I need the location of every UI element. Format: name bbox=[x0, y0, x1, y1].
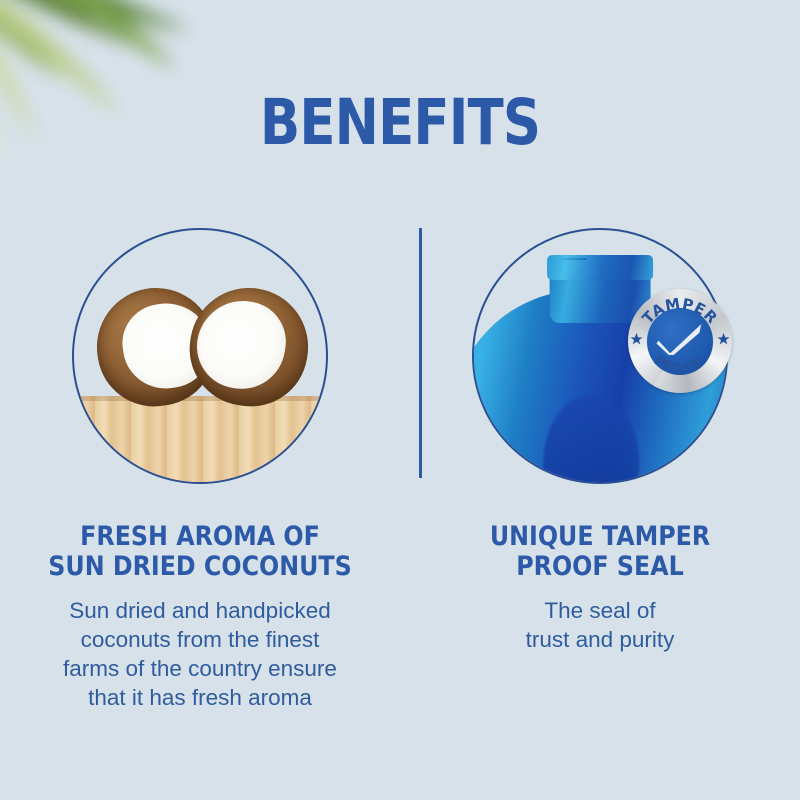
tamper-proof-seal-badge: TAMPER PROOF bbox=[628, 289, 732, 393]
benefit-caption-right: UNIQUE TAMPER PROOF SEAL The seal of tru… bbox=[400, 522, 800, 654]
circle-outline bbox=[72, 228, 328, 484]
coconut-half-right bbox=[181, 279, 317, 415]
benefit-media-circle-right: TAMPER PROOF bbox=[472, 228, 728, 484]
benefit-caption-left: FRESH AROMA OF SUN DRIED COCONUTS Sun dr… bbox=[0, 522, 400, 712]
benefit-title: UNIQUE TAMPER PROOF SEAL bbox=[436, 522, 763, 582]
benefit-item-fresh-aroma: FRESH AROMA OF SUN DRIED COCONUTS Sun dr… bbox=[0, 212, 400, 712]
bottle-droplet-emboss bbox=[544, 395, 640, 485]
coconut-halves-image bbox=[74, 230, 326, 482]
seal-badge-text: TAMPER PROOF bbox=[628, 289, 732, 393]
benefits-columns: FRESH AROMA OF SUN DRIED COCONUTS Sun dr… bbox=[0, 212, 800, 712]
benefit-item-tamper-proof: TAMPER PROOF UNIQUE TAMPER PROOF SEAL Th… bbox=[400, 212, 800, 712]
benefit-description: Sun dried and handpicked coconuts from t… bbox=[14, 596, 386, 712]
page-title: BENEFITS bbox=[64, 92, 736, 154]
bottle-cap bbox=[547, 255, 653, 280]
benefit-title: FRESH AROMA OF SUN DRIED COCONUTS bbox=[36, 522, 363, 582]
seal-top-text: TAMPER bbox=[639, 295, 722, 328]
cap-flip-tab bbox=[560, 258, 588, 260]
seal-bottom-text: PROOF bbox=[650, 352, 710, 379]
benefits-infographic: BENEFITS FRESH AROMA OF SUN DRIED COCONU… bbox=[0, 0, 800, 800]
benefit-description: The seal of trust and purity bbox=[414, 596, 786, 654]
benefit-media-circle-left bbox=[72, 228, 328, 484]
wooden-board bbox=[72, 396, 328, 482]
